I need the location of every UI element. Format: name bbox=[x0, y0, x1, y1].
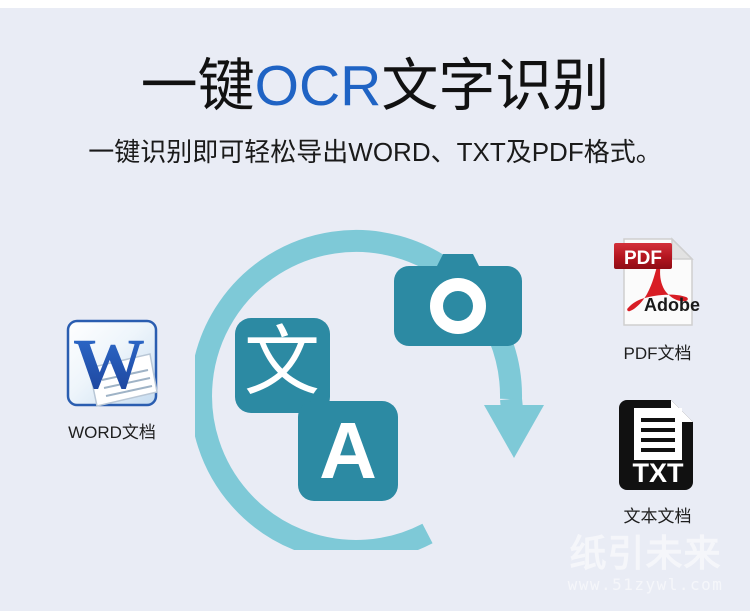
output-txt[interactable]: TXT 文本文档 bbox=[585, 398, 730, 527]
title-suffix: 文字识别 bbox=[381, 54, 609, 118]
output-pdf-label: PDF文档 bbox=[585, 339, 730, 364]
chinese-char-tile-label: 文 bbox=[244, 317, 320, 406]
output-word-label: WORD文档 bbox=[32, 418, 192, 443]
latin-char-tile-label: A bbox=[319, 406, 377, 495]
chinese-char-tile: 文 bbox=[235, 317, 330, 413]
output-pdf[interactable]: Adobe PDF PDF文档 bbox=[585, 235, 730, 364]
page-title: 一键OCR文字识别 bbox=[0, 52, 750, 120]
pdf-document-icon: Adobe PDF bbox=[585, 235, 730, 329]
title-accent-ocr: OCR bbox=[255, 54, 382, 118]
word-document-icon: W bbox=[32, 318, 192, 408]
camera-icon bbox=[394, 254, 522, 346]
txt-badge-text: TXT bbox=[632, 458, 684, 488]
promo-banner: 一键OCR文字识别 一键识别即可轻松导出WORD、TXT及PDF格式。 bbox=[0, 0, 750, 611]
title-prefix: 一键 bbox=[141, 54, 255, 118]
output-txt-label: 文本文档 bbox=[585, 502, 730, 527]
ocr-process-graphic: 文 A bbox=[195, 205, 545, 550]
pdf-brand-text: Adobe bbox=[644, 295, 700, 315]
heading-block: 一键OCR文字识别 一键识别即可轻松导出WORD、TXT及PDF格式。 bbox=[0, 52, 750, 169]
pdf-badge-text: PDF bbox=[624, 248, 662, 269]
svg-text:W: W bbox=[73, 324, 145, 404]
latin-char-tile: A bbox=[298, 401, 398, 501]
page-subtitle: 一键识别即可轻松导出WORD、TXT及PDF格式。 bbox=[0, 135, 750, 169]
txt-document-icon: TXT bbox=[585, 398, 730, 492]
output-word[interactable]: W WORD文档 bbox=[32, 318, 192, 443]
